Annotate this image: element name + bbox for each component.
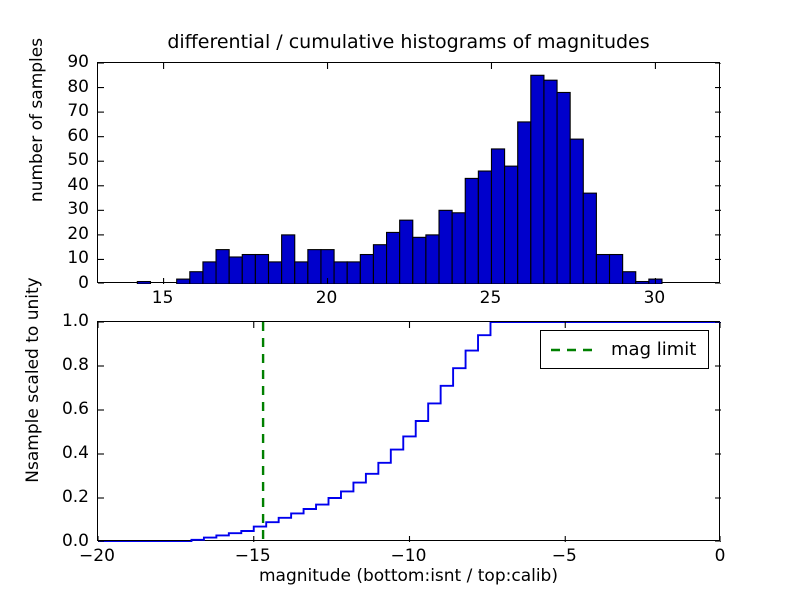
top-histogram-plot [98,63,721,284]
ytick-label: 70 [19,101,89,121]
ytick-label: 40 [19,175,89,195]
ytick-label: 90 [19,52,89,72]
ytick-label: 60 [19,126,89,146]
page-title: differential / cumulative histograms of … [97,31,720,53]
top-histogram-axes [97,62,720,283]
xtick-label: −20 [67,546,127,566]
histogram-bar [282,235,295,284]
xtick-label: −5 [534,546,594,566]
histogram-bar [360,255,373,284]
histogram-bar [216,250,229,284]
histogram-bar [596,255,609,284]
histogram-bar [308,250,321,284]
xtick-label: 15 [133,288,193,308]
legend-box: mag limit [540,330,709,369]
histogram-bar [465,178,478,284]
histogram-bar [439,210,452,284]
histogram-bar [623,272,636,284]
histogram-bar [491,149,504,284]
xtick-label: 25 [460,288,520,308]
histogram-bar [478,171,491,284]
histogram-bar [269,262,282,284]
histogram-bar [334,262,347,284]
histogram-bar [518,122,531,284]
ytick-label: 50 [19,150,89,170]
histogram-bar [544,80,557,284]
ytick-label: 80 [19,77,89,97]
histogram-bar [255,255,268,284]
histogram-bar [557,92,570,284]
ytick-label: 1.0 [19,311,89,331]
ytick-label: 0.4 [19,443,89,463]
histogram-bar [373,245,386,284]
xtick-label: −10 [379,546,439,566]
histogram-bar [137,282,150,284]
histogram-bar [570,139,583,284]
ytick-label: 0.2 [19,487,89,507]
histogram-bar [505,166,518,284]
histogram-bar [387,232,400,284]
histogram-bar [229,257,242,284]
xtick-label: 30 [624,288,684,308]
legend-label-mag-limit: mag limit [611,339,696,360]
histogram-bar [531,75,544,284]
xaxis-label: magnitude (bottom:isnt / top:calib) [97,566,720,586]
histogram-bar [452,213,465,284]
mag-limit-line-icon [551,343,597,357]
xtick-label: 20 [297,288,357,308]
ytick-label: 0.8 [19,355,89,375]
histogram-bar [583,193,596,284]
histogram-bar [177,279,190,284]
xtick-label: −15 [223,546,283,566]
ytick-label: 30 [19,199,89,219]
histogram-bar [413,237,426,284]
histogram-bar [242,255,255,284]
histogram-bar [190,272,203,284]
ytick-label: 0.6 [19,399,89,419]
ytick-label: 10 [19,248,89,268]
histogram-bar [426,235,439,284]
histogram-bar [636,282,649,284]
histogram-bar [347,262,360,284]
histogram-bar [400,220,413,284]
histogram-bar [295,262,308,284]
histogram-bar [203,262,216,284]
histogram-bar [610,255,623,284]
figure-canvas: differential / cumulative histograms of … [0,0,800,600]
xtick-label: 0 [690,546,750,566]
ytick-label: 20 [19,224,89,244]
